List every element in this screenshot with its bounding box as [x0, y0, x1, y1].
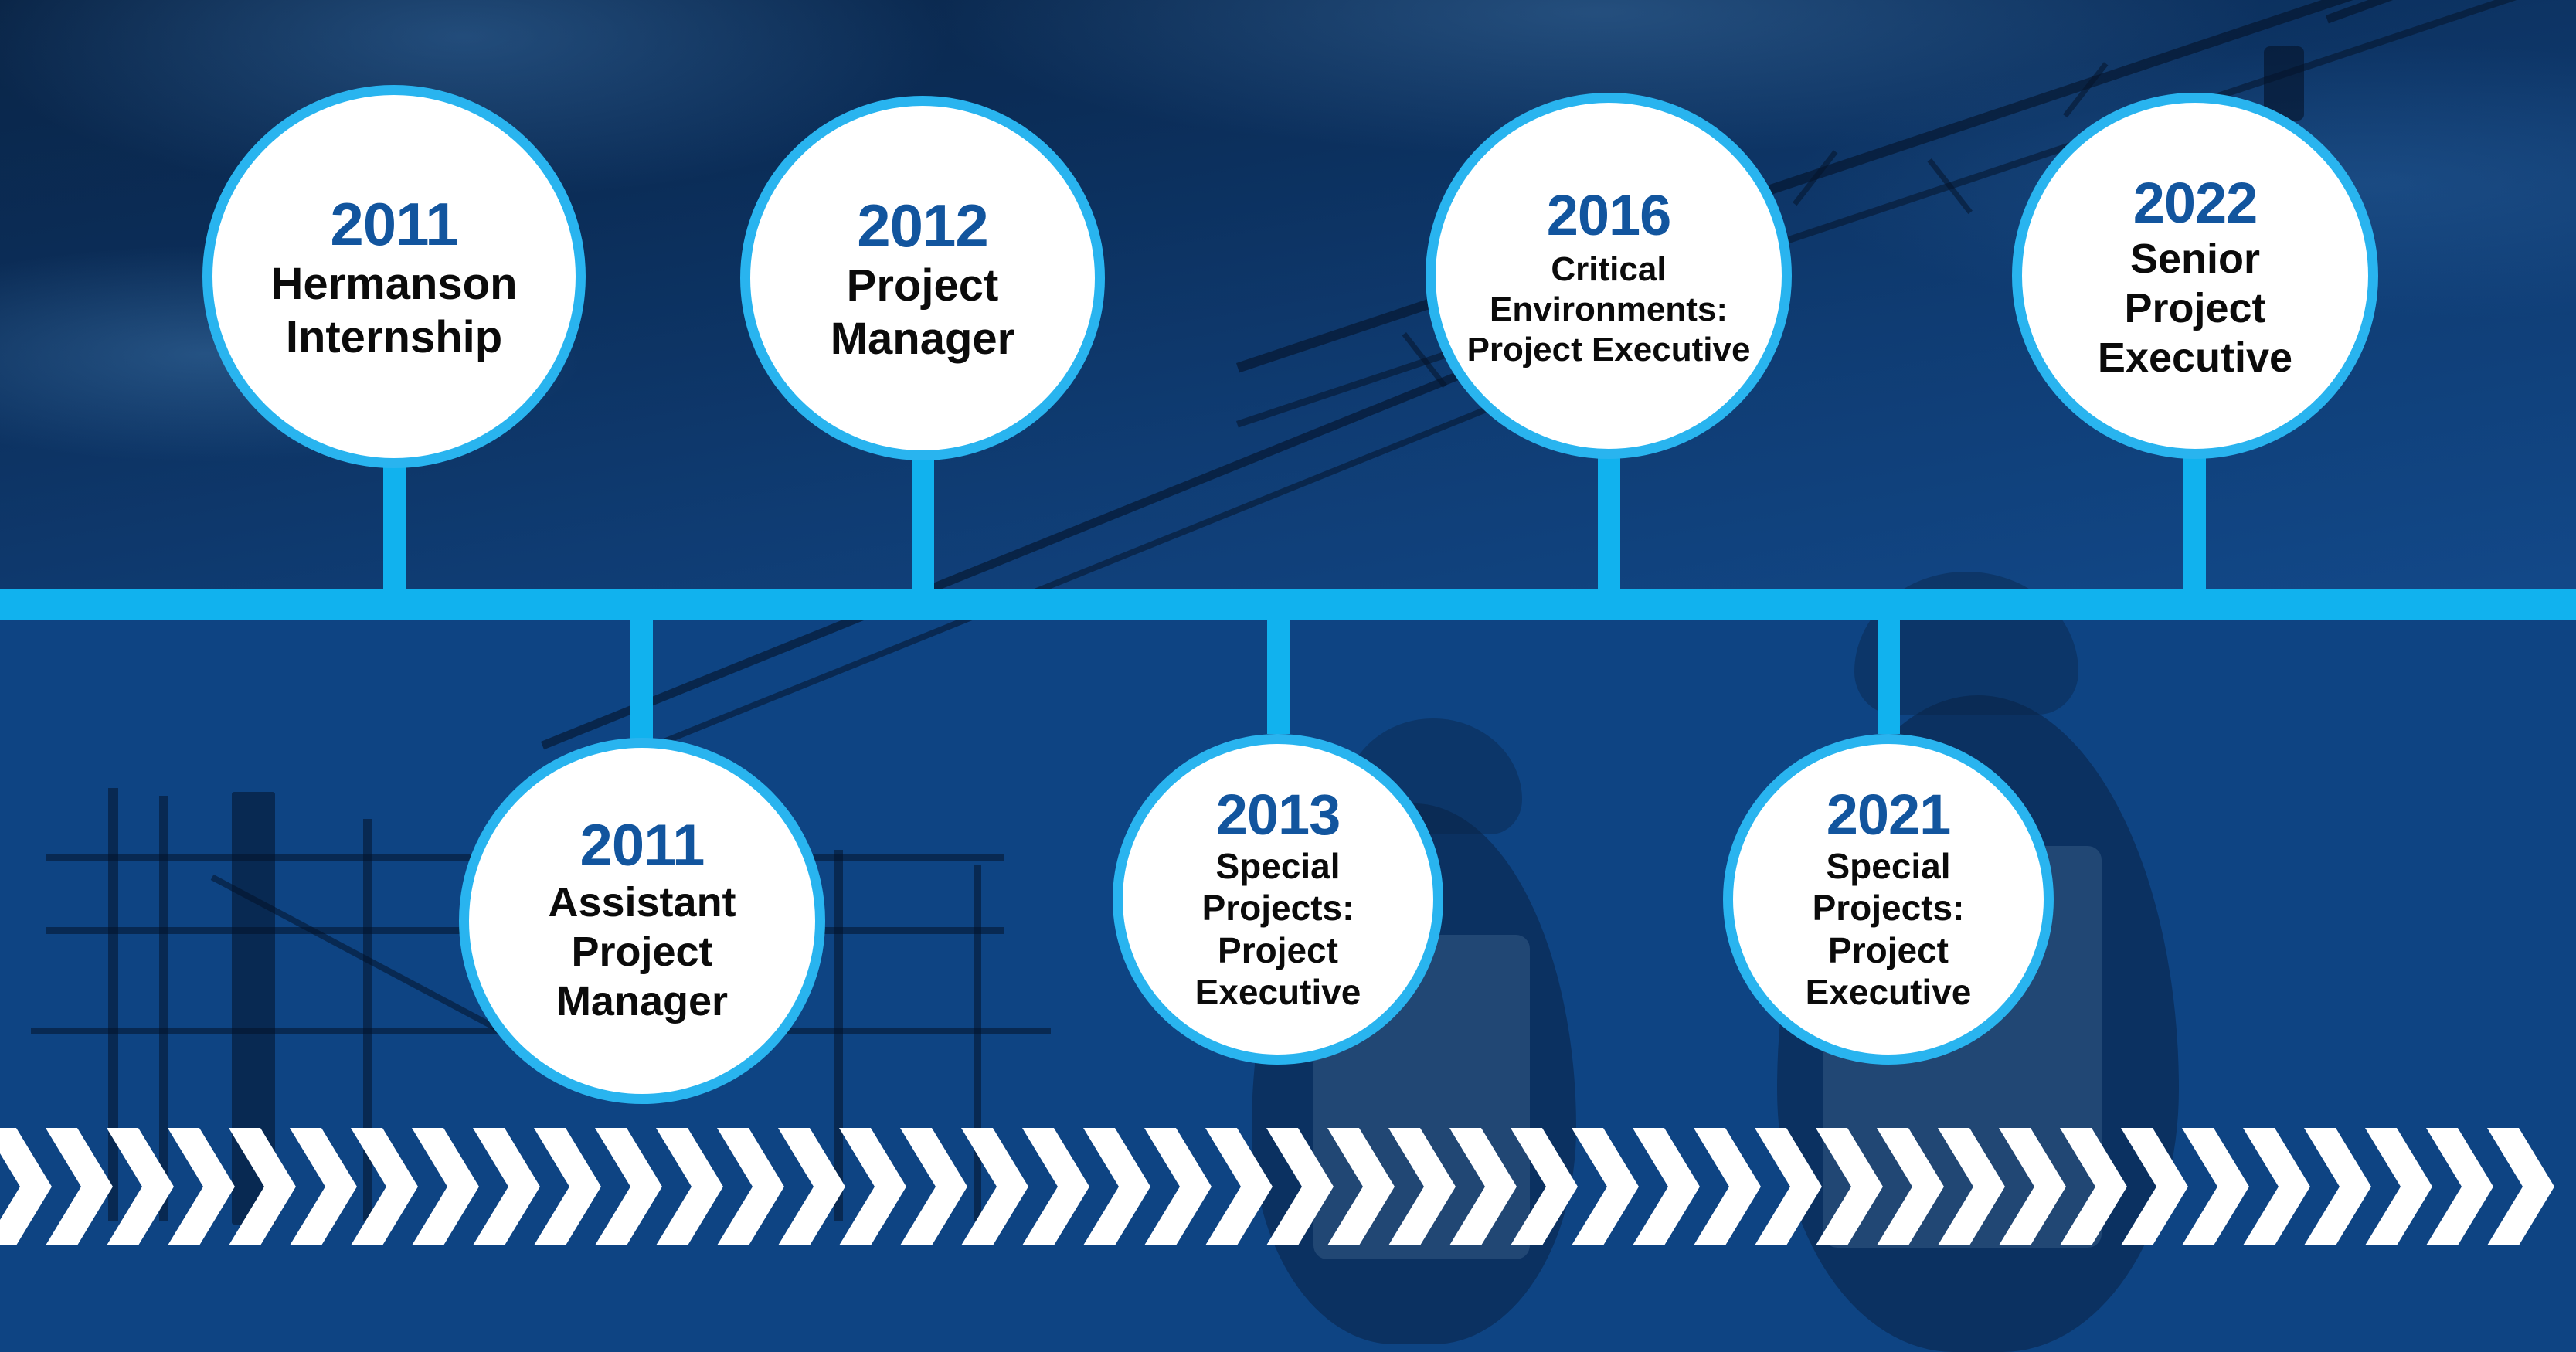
timeline-axis-bar: [0, 589, 2576, 620]
milestone-label-line: Internship: [270, 311, 517, 364]
chevron-right-icon: [1938, 1128, 2005, 1245]
milestone-label-line: Environments:: [1467, 290, 1751, 330]
chevron-right-icon: [412, 1128, 479, 1245]
milestone-2021-special-projects[interactable]: 2021 Special Projects: Project Executive: [1723, 734, 2054, 1065]
connector-stem-2016-critical-environments: [1598, 456, 1620, 592]
chevron-right-icon: [0, 1128, 52, 1245]
chevron-right-icon: [839, 1128, 906, 1245]
milestone-year: 2022: [2133, 174, 2258, 232]
chevron-right-icon: [900, 1128, 967, 1245]
milestone-2016-critical-environments[interactable]: 2016 Critical Environments: Project Exec…: [1426, 93, 1792, 459]
chevron-right-icon: [2304, 1128, 2371, 1245]
milestone-year: 2021: [1827, 786, 1951, 844]
milestone-label: Special Projects: Project Executive: [1143, 845, 1413, 1013]
chevron-right-icon: [46, 1128, 113, 1245]
milestone-year: 2012: [857, 195, 988, 257]
milestone-label: Hermanson Internship: [270, 258, 517, 364]
chevron-right-icon: [1327, 1128, 1395, 1245]
chevron-right-icon: [534, 1128, 601, 1245]
chevron-right-icon: [1816, 1128, 1883, 1245]
chevron-right-icon: [1083, 1128, 1150, 1245]
milestone-label: Critical Environments: Project Executive: [1467, 250, 1751, 370]
milestone-label-line: Manager: [548, 977, 736, 1027]
milestone-label: Special Projects: Project Executive: [1753, 845, 2024, 1013]
chevron-right-icon: [229, 1128, 296, 1245]
milestone-label: Assistant Project Manager: [548, 878, 736, 1026]
chevron-right-icon: [473, 1128, 540, 1245]
milestone-bubble: 2011 Assistant Project Manager: [459, 738, 825, 1104]
milestone-label-line: Assistant: [548, 878, 736, 928]
milestone-bubble: 2011 Hermanson Internship: [202, 85, 586, 468]
chevron-right-icon: [1694, 1128, 1761, 1245]
chevron-right-icon: [1388, 1128, 1456, 1245]
chevron-right-icon: [2487, 1128, 2554, 1245]
chevron-right-icon: [1266, 1128, 1334, 1245]
chevron-right-icon: [2182, 1128, 2249, 1245]
chevron-right-icon: [2060, 1128, 2127, 1245]
milestone-label: Project Manager: [831, 260, 1015, 365]
milestone-label-line: Manager: [831, 313, 1015, 365]
chevron-right-icon: [2243, 1128, 2310, 1245]
milestone-year: 2016: [1547, 186, 1671, 244]
milestone-2022-senior-project-executive[interactable]: 2022 Senior Project Executive: [2012, 93, 2378, 459]
milestone-bubble: 2012 Project Manager: [740, 96, 1105, 460]
chevron-right-icon: [351, 1128, 418, 1245]
milestone-label-line: Executive: [2098, 334, 2292, 383]
chevron-right-icon: [1449, 1128, 1517, 1245]
chevron-right-icon: [595, 1128, 662, 1245]
chevron-right-icon: [1144, 1128, 1212, 1245]
chevron-right-icon: [290, 1128, 357, 1245]
milestone-label-line: Senior: [2098, 235, 2292, 284]
chevron-right-icon: [2365, 1128, 2432, 1245]
chevron-right-icon: [1999, 1128, 2066, 1245]
connector-stem-2013-special-projects: [1267, 618, 1290, 734]
milestone-label-line: Project: [548, 928, 736, 977]
chevron-right-icon: [107, 1128, 174, 1245]
milestone-bubble: 2013 Special Projects: Project Executive: [1113, 734, 1443, 1065]
chevron-right-icon: [168, 1128, 235, 1245]
chevron-right-icon: [1633, 1128, 1700, 1245]
connector-stem-2011-internship: [383, 460, 406, 592]
milestone-label-line: Hermanson: [270, 258, 517, 311]
milestone-2012-project-manager[interactable]: 2012 Project Manager: [740, 96, 1105, 460]
milestone-label-line: Project: [831, 260, 1015, 312]
milestone-label: Senior Project Executive: [2098, 235, 2292, 382]
milestone-year: 2011: [580, 816, 705, 876]
milestone-label-line: Project: [2098, 284, 2292, 334]
chevron-right-icon: [1877, 1128, 1944, 1245]
chevron-band: [0, 1128, 2576, 1245]
chevron-right-icon: [1511, 1128, 1578, 1245]
chevron-right-icon: [2121, 1128, 2188, 1245]
chevron-right-icon: [1205, 1128, 1273, 1245]
chevron-right-icon: [2426, 1128, 2493, 1245]
chevron-right-icon: [1572, 1128, 1639, 1245]
connector-stem-2021-special-projects: [1878, 618, 1900, 734]
milestone-2011-internship[interactable]: 2011 Hermanson Internship: [202, 85, 586, 468]
milestone-2011-assistant-project-manager[interactable]: 2011 Assistant Project Manager: [459, 738, 825, 1104]
chevron-right-icon: [778, 1128, 845, 1245]
milestone-bubble: 2016 Critical Environments: Project Exec…: [1426, 93, 1792, 459]
milestone-label-line: Special Projects:: [1143, 845, 1413, 929]
timeline-infographic: 2011 Hermanson Internship 2012 Project M…: [0, 0, 2576, 1352]
milestone-year: 2013: [1216, 786, 1341, 844]
milestone-label-line: Project Executive: [1753, 929, 2024, 1014]
milestone-bubble: 2021 Special Projects: Project Executive: [1723, 734, 2054, 1065]
milestone-label-line: Critical: [1467, 250, 1751, 290]
milestone-label-line: Special Projects:: [1753, 845, 2024, 929]
connector-stem-2022-senior-project-executive: [2183, 456, 2206, 592]
chevron-right-icon: [1755, 1128, 1822, 1245]
connector-stem-2011-assistant-project-manager: [630, 618, 653, 742]
chevron-band-graphic: [0, 1128, 2576, 1245]
milestone-label-line: Project Executive: [1467, 330, 1751, 370]
milestone-label-line: Project Executive: [1143, 929, 1413, 1014]
milestone-year: 2011: [330, 194, 457, 256]
milestone-2013-special-projects[interactable]: 2013 Special Projects: Project Executive: [1113, 734, 1443, 1065]
chevron-right-icon: [1022, 1128, 1089, 1245]
chevron-right-icon: [656, 1128, 723, 1245]
chevron-right-icon: [961, 1128, 1028, 1245]
chevron-right-icon: [717, 1128, 784, 1245]
milestone-bubble: 2022 Senior Project Executive: [2012, 93, 2378, 459]
connector-stem-2012-project-manager: [912, 456, 934, 592]
